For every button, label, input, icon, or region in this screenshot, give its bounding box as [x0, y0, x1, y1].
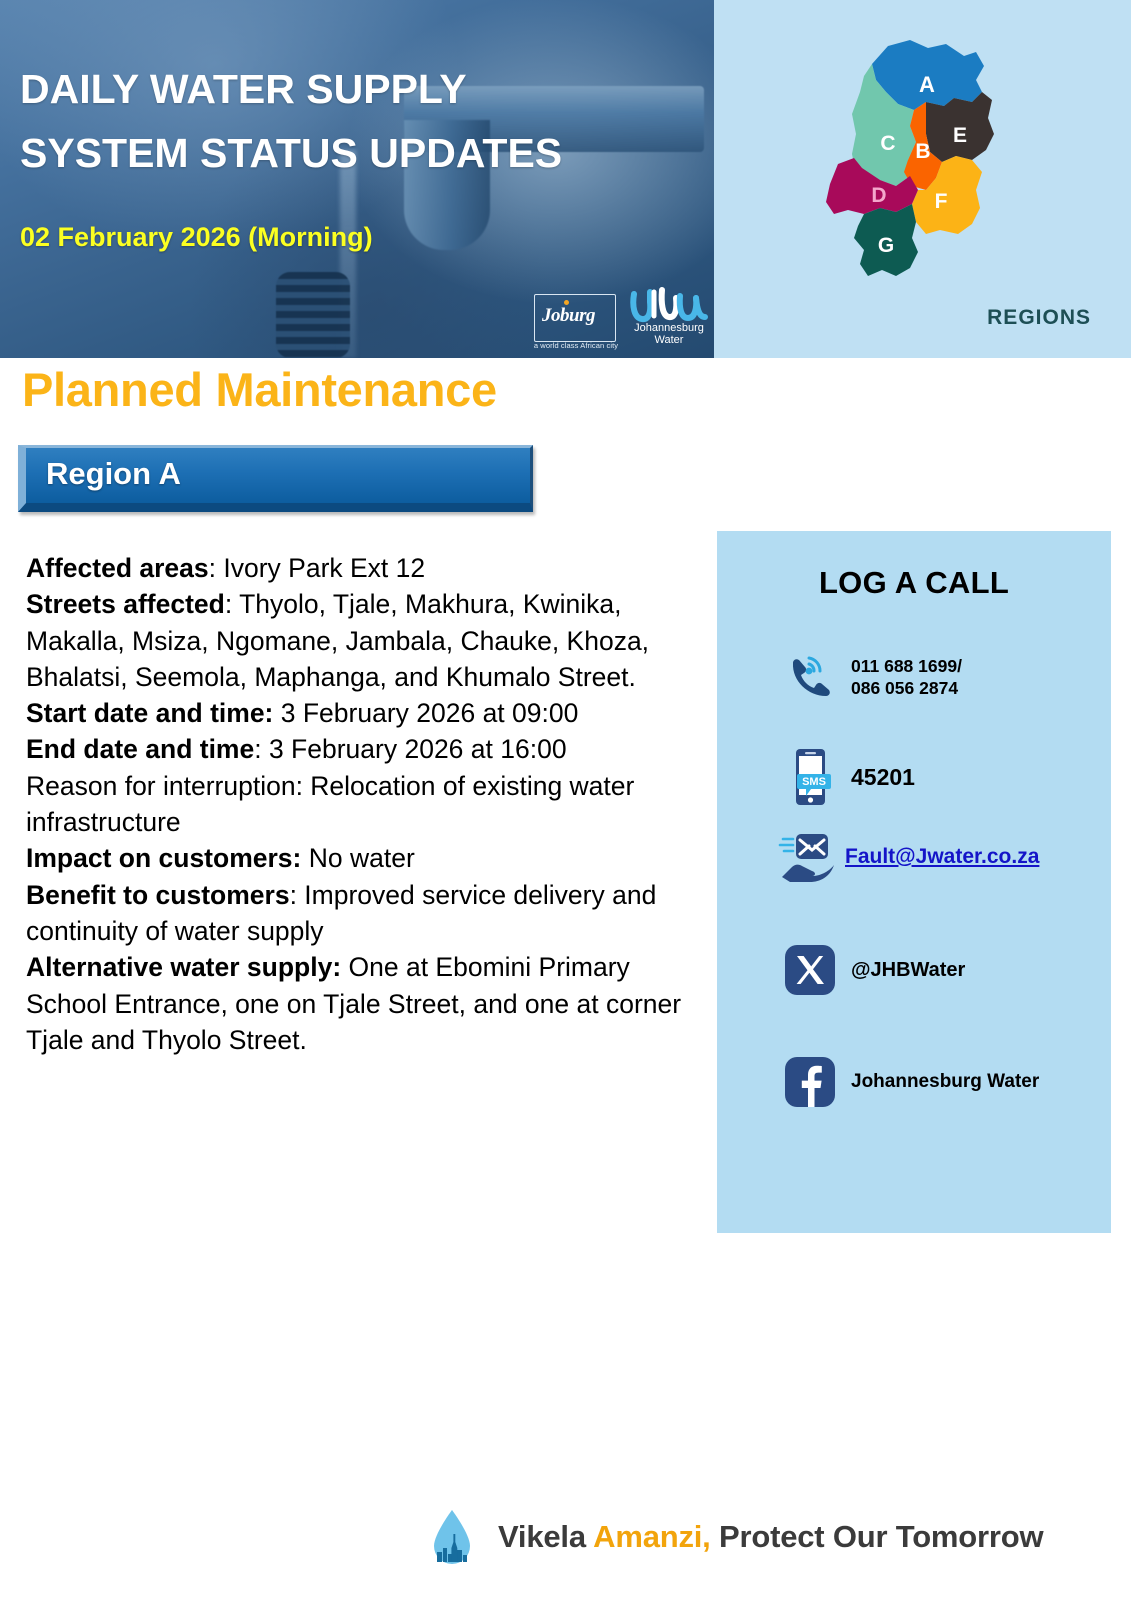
- notice-line-label: Start date and time:: [26, 698, 273, 728]
- page-footer: Vikela Amanzi, Protect Our Tomorrow: [0, 1480, 1131, 1600]
- regions-caption: REGIONS: [714, 306, 1091, 330]
- joburg-logo-word: Joburg: [542, 305, 595, 327]
- regions-map-icon: A B C D E F G: [776, 22, 1076, 312]
- region-map-label-d: D: [871, 184, 886, 207]
- phone-ringing-icon: [779, 656, 841, 698]
- page-header: DAILY WATER SUPPLY SYSTEM STATUS UPDATES…: [0, 0, 1131, 358]
- publication-date: 02 February 2026 (Morning): [20, 222, 373, 253]
- page-title-line2: SYSTEM STATUS UPDATES: [20, 122, 710, 186]
- x-twitter-icon: [779, 943, 841, 997]
- email-in-hand-icon: [775, 831, 837, 883]
- johannesburg-water-logo-text: Johannesburg Water: [620, 322, 714, 346]
- notice-line: Alternative water supply: One at Ebomini…: [26, 949, 698, 1058]
- contact-row-x[interactable]: @JHBWater: [779, 943, 965, 997]
- region-map-label-c: C: [880, 132, 895, 155]
- notice-line: Reason for interruption: Relocation of e…: [26, 768, 698, 841]
- contact-row-email[interactable]: Fault@Jwater.co.za: [775, 831, 1039, 883]
- water-drop-skyline-icon: [430, 1508, 474, 1566]
- page-title: DAILY WATER SUPPLY SYSTEM STATUS UPDATES: [20, 58, 710, 185]
- footer-slogan-part2: Protect Our Tomorrow: [711, 1519, 1044, 1554]
- joburg-logo: Joburg: [534, 294, 616, 342]
- email-address-link[interactable]: Fault@Jwater.co.za: [837, 845, 1039, 869]
- sms-badge-label: SMS: [802, 776, 826, 788]
- region-map-label-g: G: [878, 234, 894, 257]
- region-banner: Region A: [18, 445, 533, 512]
- phone-number-line2: 086 056 2874: [851, 678, 958, 698]
- sms-number: 45201: [841, 766, 915, 788]
- footer-slogan-part1: Vikela: [498, 1519, 593, 1554]
- sms-phone-icon: SMS: [779, 747, 841, 807]
- contact-row-facebook[interactable]: Johannesburg Water: [779, 1055, 1039, 1109]
- x-handle: @JHBWater: [841, 959, 965, 981]
- notice-line-label: End date and time: [26, 734, 254, 764]
- contact-row-sms[interactable]: SMS 45201: [779, 747, 915, 807]
- notice-line-value: No water: [301, 843, 414, 873]
- region-map-label-b: B: [915, 140, 930, 163]
- footer-slogan-amanzi: Amanzi,: [593, 1519, 710, 1554]
- region-map-label-f: F: [935, 190, 948, 213]
- notice-line: Start date and time: 3 February 2026 at …: [26, 695, 698, 731]
- phone-number-line1: 011 688 1699/: [851, 656, 962, 676]
- phone-numbers: 011 688 1699/ 086 056 2874: [841, 655, 962, 699]
- notice-line-label: Streets affected: [26, 589, 225, 619]
- joburg-tagline: a world class African city: [530, 341, 622, 350]
- notice-line-label: Impact on customers:: [26, 843, 301, 873]
- notice-line: Streets affected: Thyolo, Tjale, Makhura…: [26, 586, 698, 695]
- notice-line: Impact on customers: No water: [26, 840, 698, 876]
- notice-line-label: Affected areas: [26, 553, 209, 583]
- notice-line-value: 3 February 2026 at 09:00: [273, 698, 578, 728]
- log-a-call-title: LOG A CALL: [717, 565, 1111, 601]
- contact-row-phone[interactable]: 011 688 1699/ 086 056 2874: [779, 655, 962, 699]
- notice-line: Affected areas: Ivory Park Ext 12: [26, 550, 698, 586]
- notice-line-value: : Ivory Park Ext 12: [209, 553, 426, 583]
- notice-line-label: Benefit to customers: [26, 880, 290, 910]
- faucet-thread-graphic: [276, 272, 350, 358]
- page-title-line1: DAILY WATER SUPPLY: [20, 58, 710, 122]
- footer-slogan: Vikela Amanzi, Protect Our Tomorrow: [474, 1519, 1043, 1555]
- regions-map-panel: A B C D E F G REGIONS: [714, 0, 1131, 358]
- facebook-icon: [779, 1055, 841, 1109]
- notice-line: End date and time: 3 February 2026 at 16…: [26, 731, 698, 767]
- region-map-label-a: A: [919, 72, 935, 97]
- notice-line-label: Alternative water supply:: [26, 952, 341, 982]
- notice-line: Benefit to customers: Improved service d…: [26, 877, 698, 950]
- joburg-logo-dot: [564, 300, 569, 305]
- header-hero-image: DAILY WATER SUPPLY SYSTEM STATUS UPDATES…: [0, 0, 714, 358]
- section-title: Planned Maintenance: [22, 362, 497, 417]
- log-a-call-panel: LOG A CALL 011 688 1699/ 086 056 2874: [717, 531, 1111, 1233]
- notice-line-value: Reason for interruption: Relocation of e…: [26, 771, 634, 837]
- region-map-label-e: E: [953, 124, 967, 147]
- maintenance-notice-body: Affected areas: Ivory Park Ext 12Streets…: [26, 550, 698, 1058]
- notice-line-value: : 3 February 2026 at 16:00: [254, 734, 566, 764]
- facebook-page-name: Johannesburg Water: [841, 1071, 1039, 1093]
- region-banner-label: Region A: [46, 456, 181, 492]
